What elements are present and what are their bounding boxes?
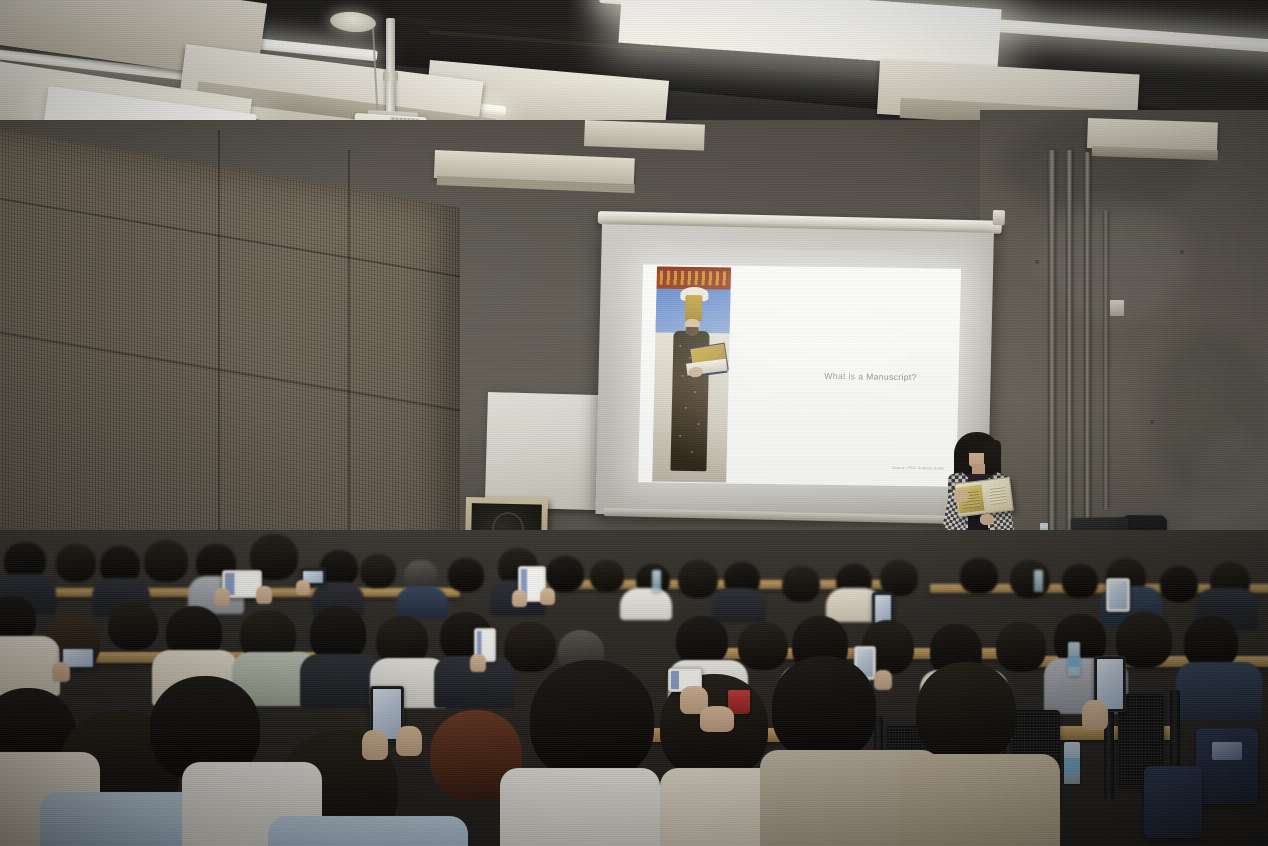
audience-head: [1160, 566, 1198, 602]
hand: [874, 670, 892, 690]
slide-title-text: What is a Manuscript?: [791, 370, 951, 382]
slide-manuscript-image: [652, 267, 731, 483]
bottle-cap: [1040, 523, 1048, 528]
bottle-label: [1068, 656, 1080, 667]
water-bottle: [652, 570, 661, 592]
hand: [540, 588, 555, 605]
hand: [256, 586, 272, 604]
audience-body: [500, 768, 660, 846]
hand: [470, 654, 486, 672]
hand: [214, 588, 230, 606]
wall-soffit-panel: [584, 120, 705, 151]
miniature-figure-beard: [685, 327, 698, 336]
student-audience: [0, 530, 1268, 846]
audience-body: [900, 754, 1060, 846]
bottle-label: [1064, 758, 1080, 772]
audience-body: [268, 816, 468, 846]
audience-head: [996, 622, 1046, 672]
hand: [52, 662, 70, 682]
panel-seam: [218, 130, 220, 560]
audience-head: [108, 602, 158, 650]
audience-body: [712, 588, 766, 622]
audience-head: [56, 544, 96, 582]
form-tie-mark: [1180, 250, 1184, 254]
backpack: [1144, 766, 1202, 838]
whiteboard: [485, 392, 608, 510]
audience-body: [396, 586, 448, 618]
audience-body: [620, 588, 672, 620]
audience-head: [590, 560, 624, 592]
audience-head: [676, 616, 728, 666]
projector-mount-collar: [383, 72, 398, 81]
audience-head: [782, 566, 820, 602]
hand: [362, 730, 388, 760]
audience-head: [880, 560, 918, 596]
held-manuscript-right-text: [989, 485, 1007, 505]
audience-head: [678, 560, 718, 598]
audience-head: [360, 554, 396, 588]
backpack: [1196, 728, 1258, 804]
audience-body: [0, 636, 60, 696]
water-bottle: [1034, 570, 1043, 592]
slide-credit-text: Source : Prof. Anthony Cutler: [825, 465, 945, 471]
hand: [296, 580, 310, 595]
wall-junction-box: [1110, 300, 1124, 316]
audience-head: [772, 656, 876, 760]
hand: [700, 706, 734, 732]
conduit-pipe: [1084, 152, 1090, 552]
backpack-patch: [1212, 742, 1242, 760]
audience-head: [916, 662, 1016, 762]
projected-slide: What is a Manuscript? Source : Prof. Ant…: [638, 264, 961, 486]
audience-head: [960, 558, 998, 594]
audience-head: [144, 540, 188, 582]
hand: [512, 590, 527, 607]
hand: [396, 726, 422, 756]
audience-head: [738, 622, 788, 670]
audience-head: [448, 558, 484, 592]
audience-head: [530, 660, 654, 780]
form-tie-mark: [1035, 260, 1039, 264]
projector-mount-rod: [386, 18, 395, 116]
raised-phone[interactable]: [1106, 578, 1130, 612]
panel-seam: [348, 150, 350, 550]
audience-head: [1010, 560, 1050, 598]
lecture-hall-photograph: What is a Manuscript? Source : Prof. Ant…: [0, 0, 1268, 846]
presenter-right-hand: [980, 514, 994, 525]
conduit-pipe: [1066, 150, 1072, 570]
conduit-pipe: [1103, 210, 1108, 510]
audience-body: [1176, 662, 1262, 720]
form-tie-mark: [1150, 420, 1154, 424]
hand: [1082, 700, 1108, 730]
audience-head: [1062, 564, 1098, 598]
miniature-figure-hat: [685, 295, 703, 321]
miniature-border-ornament: [660, 271, 728, 286]
screen-roller-end-cap: [993, 210, 1005, 225]
audience-head: [546, 556, 584, 592]
conduit-pipe: [1048, 150, 1055, 570]
